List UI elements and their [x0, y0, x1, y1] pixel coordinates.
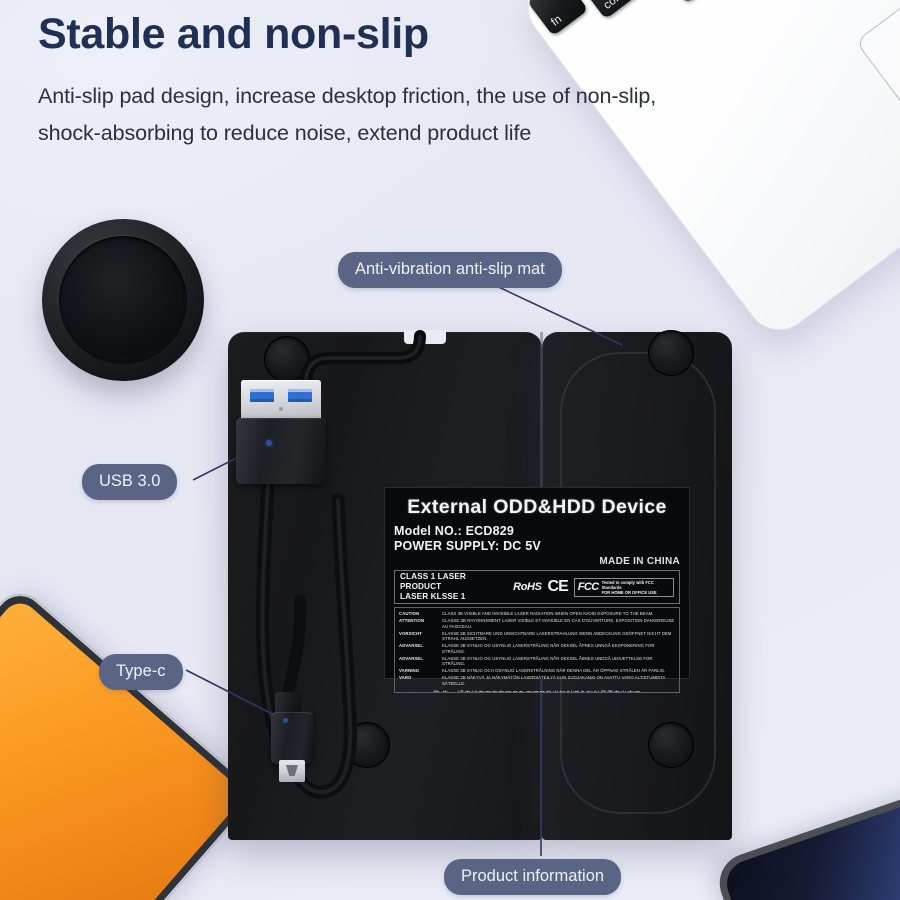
laser-class-text: CLASS 1 LASER PRODUCT LASER KLSSE 1 [400, 572, 506, 602]
product-information-label: External ODD&HDD Device Model NO.: ECD82… [384, 487, 690, 679]
warning-text: CLASS 3B VISIBLE AND INVISIBLE LASER RAD… [442, 611, 654, 617]
ce-mark-icon: CE [548, 578, 568, 596]
type-c-indicator-dot [283, 718, 288, 723]
rohs-mark-icon: RoHS [513, 581, 541, 593]
page-title: Stable and non-slip [38, 10, 429, 59]
label-power: POWER SUPPLY: DC 5V [394, 539, 680, 554]
warning-lang: ATTENTION [399, 618, 437, 629]
fcc-logo-text: FCC [578, 581, 599, 593]
fcc-compliance-text: Tested to comply with FCC Standards FOR … [602, 580, 670, 595]
warning-lang: ADVARSEL [399, 643, 437, 654]
fcc-mark-icon: FCC Tested to comply with FCC Standards … [574, 578, 674, 597]
warning-row: CAUTION CLASS 3B VISIBLE AND INVISIBLE L… [399, 611, 675, 617]
usb3-indicator-dot [266, 440, 272, 446]
warning-text-chinese-body: 通电状态下存在可见及不可见激光辐射避免辐射暴露在光束下 [458, 691, 641, 693]
multilingual-warning-block: CAUTION CLASS 3B VISIBLE AND INVISIBLE L… [394, 607, 680, 693]
fcc-text-line-1: Tested to comply with FCC Standards [602, 580, 670, 590]
callout-type-c[interactable]: Type-c [99, 654, 183, 690]
callout-anti-vibration-mat[interactable]: Anti-vibration anti-slip mat [338, 252, 562, 288]
warning-text: KLASSE 3B NÄKYVÄ JA NÄKYMÄTÖN LASERSÄTEI… [442, 675, 675, 686]
warning-text: KLASSE 3B SICHTBARE UND UNSICHTBARE LASE… [442, 631, 675, 642]
product-feature-canvas: fn control alt option [0, 0, 900, 900]
warning-lang: ADVARSEL [399, 656, 437, 667]
laser-class-line-2: LASER KLSSE 1 [400, 592, 506, 602]
callout-product-information[interactable]: Product information [444, 859, 621, 895]
usb3-connector-head [241, 380, 321, 420]
laser-class-line-1: CLASS 1 LASER PRODUCT [400, 572, 506, 592]
warning-lang: VORSICHT [399, 631, 437, 642]
page-description: Anti-slip pad design, increase desktop f… [38, 78, 698, 152]
warning-row: VARNING KLASSE 3B SYNLIG OCH OSYNLIG LAS… [399, 668, 675, 674]
warning-lang-chinese: 警 告 [433, 691, 449, 693]
warning-row: ADVARSEL KLASSE 3B SYNLIG OG USYNLIG LAS… [399, 656, 675, 667]
type-c-metal-tip [279, 760, 305, 782]
type-c-connector-body [271, 712, 313, 764]
warning-lang: CAUTION [399, 611, 437, 617]
warning-text-chinese: 警 告 通电状态下存在可见及不可见激光辐射避免辐射暴露在光束下 [399, 689, 675, 693]
usb3-center-dot [279, 407, 283, 411]
warning-text: CLASSE 3B RAYONNEMENT LASER VISIBLE ET I… [442, 618, 675, 629]
warning-row: ATTENTION CLASSE 3B RAYONNEMENT LASER VI… [399, 618, 675, 629]
certification-marks: RoHS CE FCC Tested to comply with FCC St… [513, 578, 674, 597]
fcc-text-line-2: FOR HOME OR OFFICE USE [602, 590, 670, 595]
warning-text: KLASSE 3B SYNLIG OG USYNLIG LASERSTRÅLIN… [442, 643, 675, 654]
usb3-port-2 [288, 389, 312, 402]
warning-lang: VARO [399, 675, 437, 686]
callout-usb3[interactable]: USB 3.0 [82, 464, 177, 500]
warning-row: VORSICHT KLASSE 3B SICHTBARE UND UNSICHT… [399, 631, 675, 642]
warning-row: VARO KLASSE 3B NÄKYVÄ JA NÄKYMÄTÖN LASER… [399, 675, 675, 686]
warning-row: ADVARSEL KLASSE 3B SYNLIG OG USYNLIG LAS… [399, 643, 675, 654]
certification-row: CLASS 1 LASER PRODUCT LASER KLSSE 1 RoHS… [394, 570, 680, 604]
usb3-port-1 [250, 389, 274, 402]
label-made-in: MADE IN CHINA [394, 556, 680, 567]
label-model: Model NO.: ECD829 [394, 524, 680, 539]
label-title: External ODD&HDD Device [394, 496, 680, 519]
warning-lang: VARNING [399, 668, 437, 674]
warning-text: KLASSE 3B SYNLIG OG USYNLIG LASERSTRÅLIN… [442, 656, 675, 667]
usb3-connector-body [236, 418, 326, 484]
warning-text: KLASSE 3B SYNLIG OCH OSYNLIG LASERSTRÅLN… [442, 668, 665, 674]
